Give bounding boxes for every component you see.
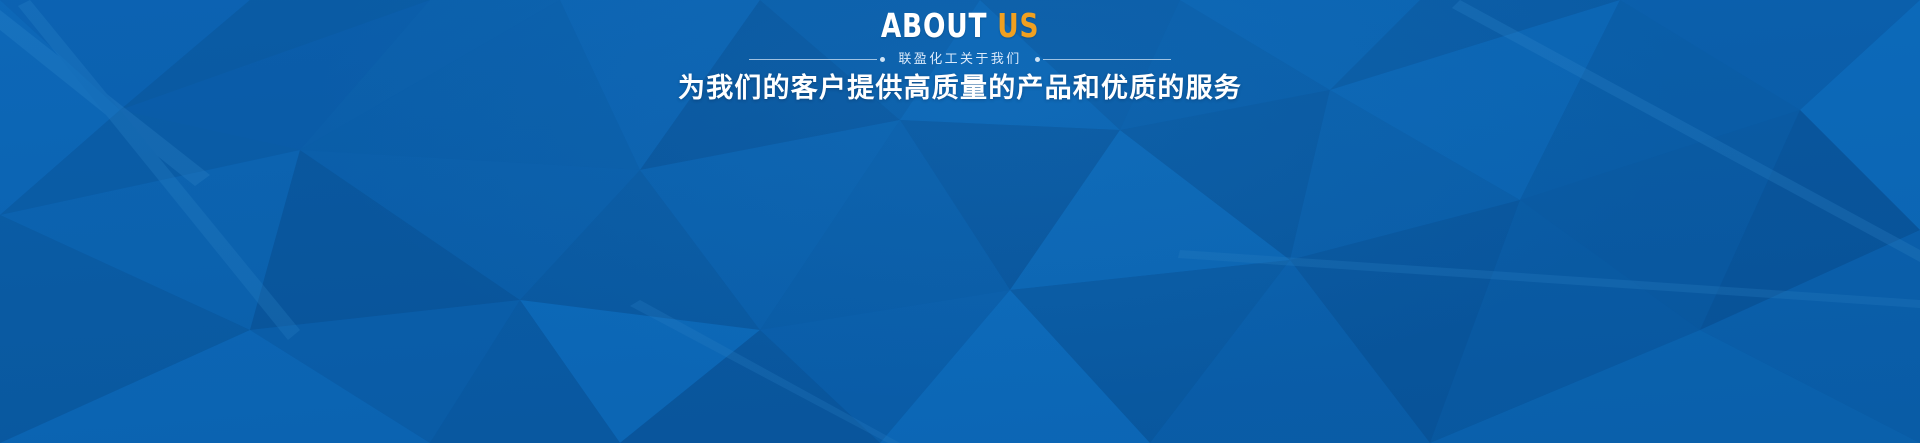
banner-content: ABOUT US 联盈化工关于我们 为我们的客户提供高质量的产品和优质的服务 <box>0 0 1920 443</box>
deco-line-left <box>749 59 877 60</box>
about-us-banner: ABOUT US 联盈化工关于我们 为我们的客户提供高质量的产品和优质的服务 <box>0 0 1920 443</box>
decorative-rule-left <box>749 57 885 62</box>
title-word-about: ABOUT <box>881 6 987 45</box>
deco-dot-left <box>880 57 885 62</box>
banner-title-english: ABOUT US <box>881 9 1040 42</box>
deco-line-right <box>1043 59 1171 60</box>
decorative-rule-right <box>1035 57 1171 62</box>
banner-headline: 为我们的客户提供高质量的产品和优质的服务 <box>678 73 1242 104</box>
title-word-us: US <box>997 6 1039 45</box>
deco-dot-right <box>1035 57 1040 62</box>
banner-subtitle: 联盈化工关于我们 <box>898 53 1021 66</box>
banner-subtitle-row: 联盈化工关于我们 <box>749 53 1170 66</box>
